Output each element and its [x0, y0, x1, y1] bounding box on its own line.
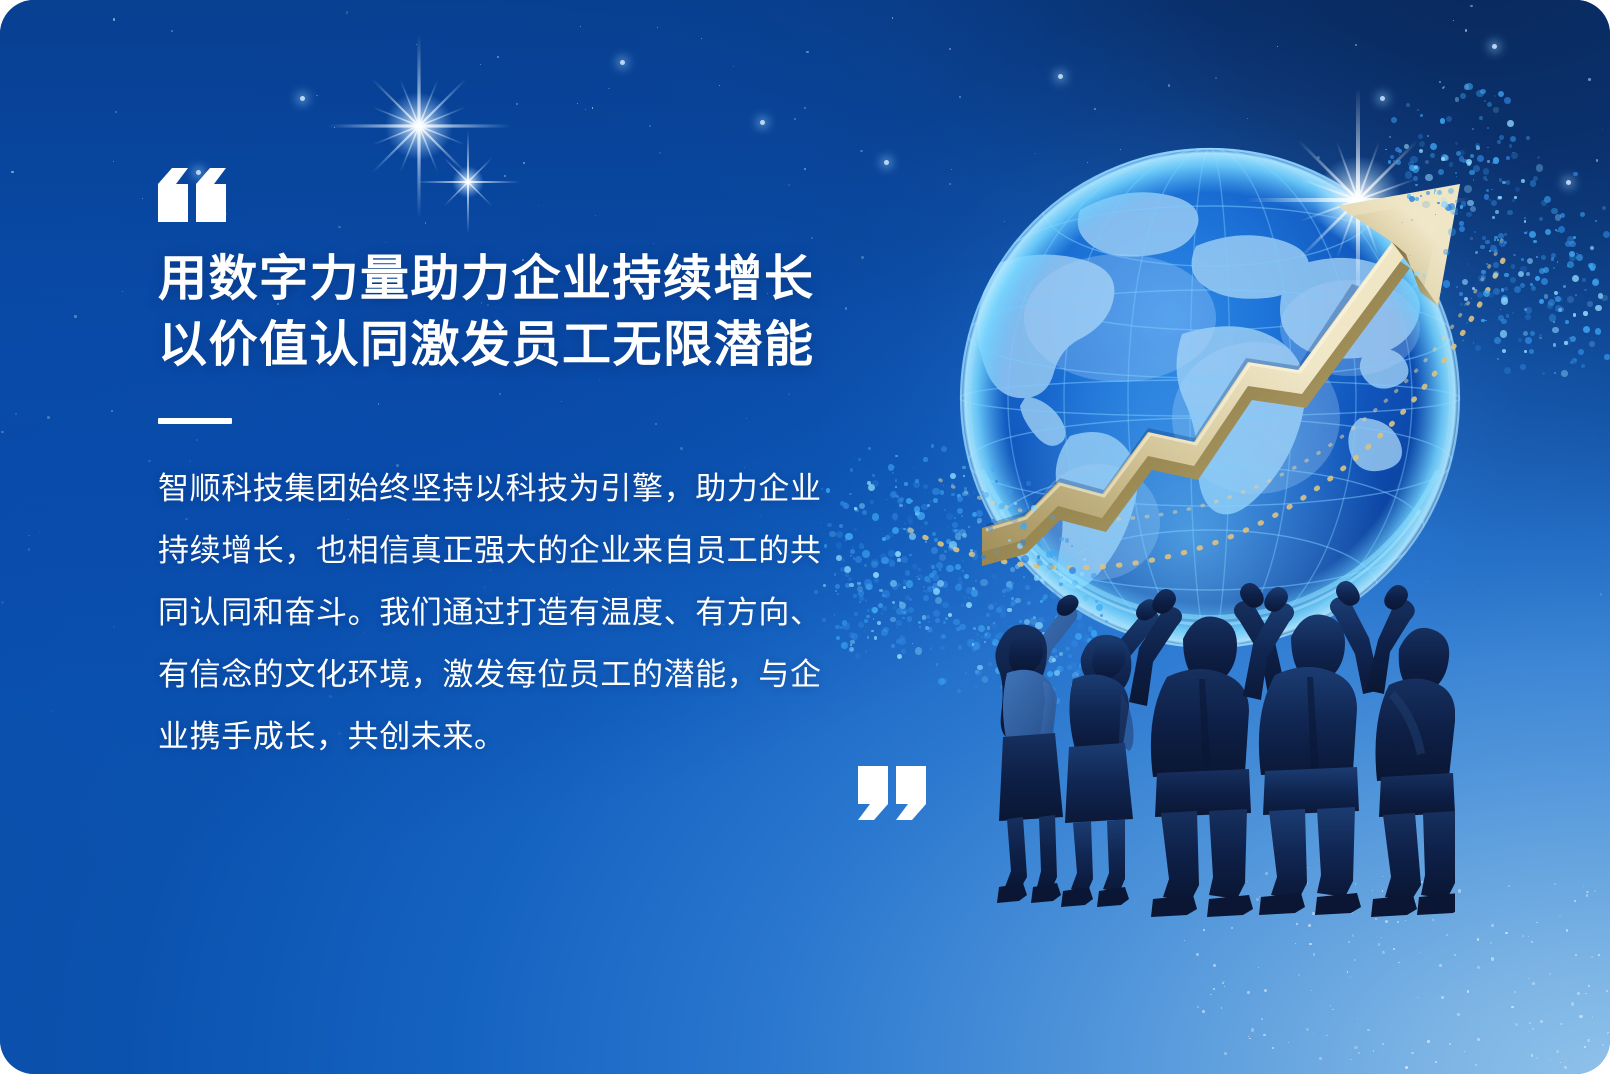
person-silhouette-5 — [1366, 585, 1455, 917]
body-line-1: 智顺科技集团始终坚持以科技为引擎，助力企业 — [158, 458, 948, 520]
page-title: 用数字力量助力企业持续增长 以价值认同激发员工无限潜能 — [158, 246, 948, 378]
closing-quote-icon — [858, 766, 928, 820]
body-line-4: 有信念的文化环境，激发每位员工的潜能，与企 — [158, 644, 948, 706]
promotional-banner: 用数字力量助力企业持续增长 以价值认同激发员工无限潜能 智顺科技集团始终坚持以科… — [0, 0, 1610, 1074]
opening-quote-mark-wrap — [158, 168, 948, 230]
title-divider — [158, 418, 232, 424]
text-panel: 用数字力量助力企业持续增长 以价值认同激发员工无限潜能 智顺科技集团始终坚持以科… — [158, 168, 948, 768]
body-line-3: 同认同和奋斗。我们通过打造有温度、有方向、 — [158, 582, 948, 644]
opening-quote-icon — [158, 168, 228, 222]
body-paragraph: 智顺科技集团始终坚持以科技为引擎，助力企业 持续增长，也相信真正强大的企业来自员… — [158, 458, 948, 768]
person-silhouette-4 — [1243, 581, 1381, 915]
business-team-silhouettes — [955, 575, 1455, 925]
person-silhouette-1 — [995, 595, 1078, 903]
body-line-5: 业携手成长，共创未来。 — [158, 706, 948, 768]
body-line-2: 持续增长，也相信真正强大的企业来自员工的共 — [158, 520, 948, 582]
headline-line-2: 以价值认同激发员工无限潜能 — [158, 312, 948, 378]
headline-line-1: 用数字力量助力企业持续增长 — [158, 246, 948, 312]
